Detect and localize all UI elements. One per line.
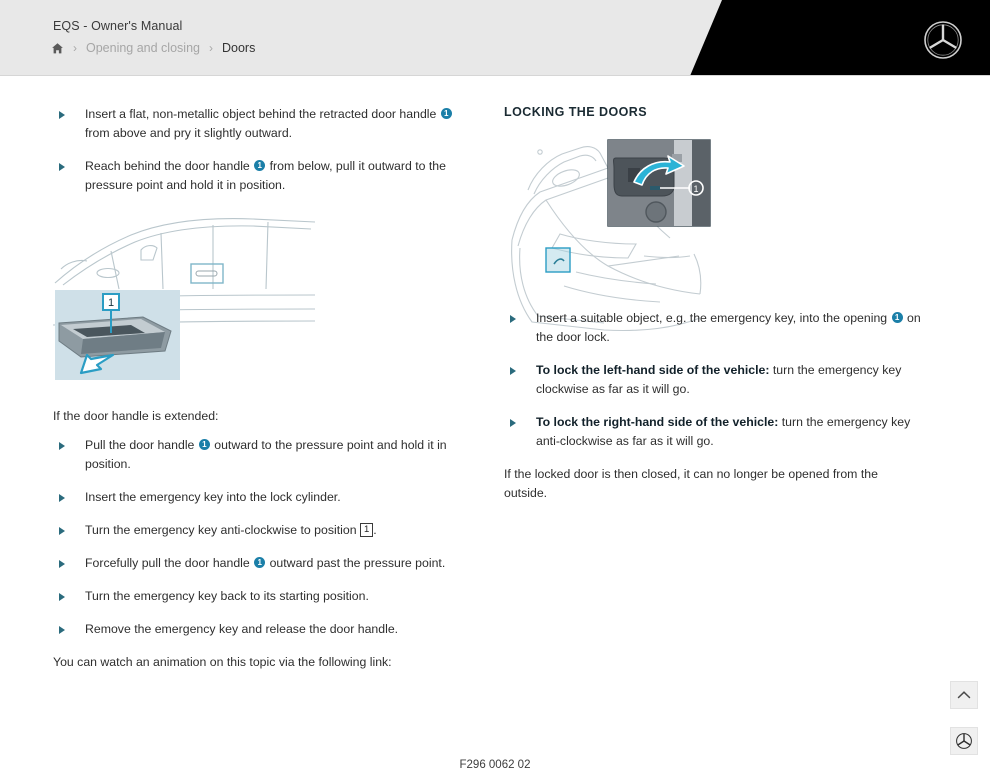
list-item: Insert the emergency key into the lock c… [53, 488, 458, 507]
left-column-lower: If the door handle is extended: Pull the… [53, 407, 458, 686]
list-item: Forcefully pull the door handle 1 outwar… [53, 554, 458, 573]
manual-title: EQS - Owner's Manual [53, 19, 182, 33]
step-text-before: Turn the emergency key anti-clockwise to… [85, 523, 360, 537]
scroll-to-top-button[interactable] [950, 681, 978, 709]
brand-shortcut-button[interactable] [950, 727, 978, 755]
list-item: Pull the door handle 1 outward to the pr… [53, 436, 458, 474]
chevron-up-icon [957, 690, 971, 700]
page-content: Insert a flat, non-metallic object behin… [0, 77, 990, 700]
list-item: Remove the emergency key and release the… [53, 620, 458, 639]
right-column-steps: Insert a suitable object, e.g. the emerg… [504, 309, 924, 517]
list-item: Reach behind the door handle 1 from belo… [53, 157, 453, 195]
step-text-before: Forcefully pull the door handle [85, 556, 253, 570]
page-title: LOCKING THE DOORS [504, 105, 924, 119]
list-item: Insert a flat, non-metallic object behin… [53, 105, 453, 143]
svg-text:1: 1 [693, 184, 698, 194]
step-lead-label: To lock the left-hand side of the vehicl… [536, 363, 769, 377]
home-icon[interactable] [51, 42, 64, 55]
app-header: EQS - Owner's Manual › Opening and closi… [0, 0, 990, 76]
mercedes-star-icon [955, 732, 973, 750]
list-item: Turn the emergency key back to its start… [53, 587, 458, 606]
step-text-after: from above and pry it slightly outward. [85, 126, 292, 140]
step-text: Insert the emergency key into the lock c… [85, 490, 341, 504]
step-text-before: Insert a flat, non-metallic object behin… [85, 107, 440, 121]
intro-extended: If the door handle is extended: [53, 407, 458, 426]
figure-code: F296 0062 02 [0, 759, 990, 771]
step-text-before: Pull the door handle [85, 438, 198, 452]
breadcrumb-separator-1: › [73, 42, 77, 54]
animation-note: You can watch an animation on this topic… [53, 653, 458, 672]
door-handle-side-view-illustration: 1 [53, 205, 333, 390]
steps-extended-handle: Pull the door handle 1 outward to the pr… [53, 436, 458, 639]
breadcrumb-separator-2: › [209, 42, 213, 54]
position-box-number: 1 [360, 523, 373, 537]
list-item: Turn the emergency key anti-clockwise to… [53, 521, 458, 540]
mercedes-star-icon [923, 20, 963, 60]
door-lock-detail-illustration: 1 [504, 130, 729, 335]
step-text-before: Reach behind the door handle [85, 159, 253, 173]
callout-badge: 1 [254, 160, 265, 171]
breadcrumb-current: Doors [222, 41, 255, 55]
step-text: Remove the emergency key and release the… [85, 622, 398, 636]
left-column: Insert a flat, non-metallic object behin… [53, 105, 453, 209]
breadcrumb-parent[interactable]: Opening and closing [86, 41, 200, 55]
callout-badge: 1 [254, 557, 265, 568]
steps-locking: Insert a suitable object, e.g. the emerg… [504, 309, 924, 451]
steps-retracted-handle: Insert a flat, non-metallic object behin… [53, 105, 453, 195]
callout-badge: 1 [892, 312, 903, 323]
list-item: To lock the right-hand side of the vehic… [504, 413, 924, 451]
step-text-before: Insert a suitable object, e.g. the emerg… [536, 311, 891, 325]
closing-note: If the locked door is then closed, it ca… [504, 465, 924, 503]
step-text-after: outward past the pressure point. [266, 556, 445, 570]
list-item: To lock the left-hand side of the vehicl… [504, 361, 924, 399]
callout-badge: 1 [199, 439, 210, 450]
step-text: Turn the emergency key back to its start… [85, 589, 369, 603]
svg-text:1: 1 [108, 297, 114, 309]
list-item: Insert a suitable object, e.g. the emerg… [504, 309, 924, 347]
breadcrumb: › Opening and closing › Doors [51, 41, 255, 55]
step-text-after: . [373, 523, 376, 537]
callout-badge: 1 [441, 108, 452, 119]
step-lead-label: To lock the right-hand side of the vehic… [536, 415, 778, 429]
